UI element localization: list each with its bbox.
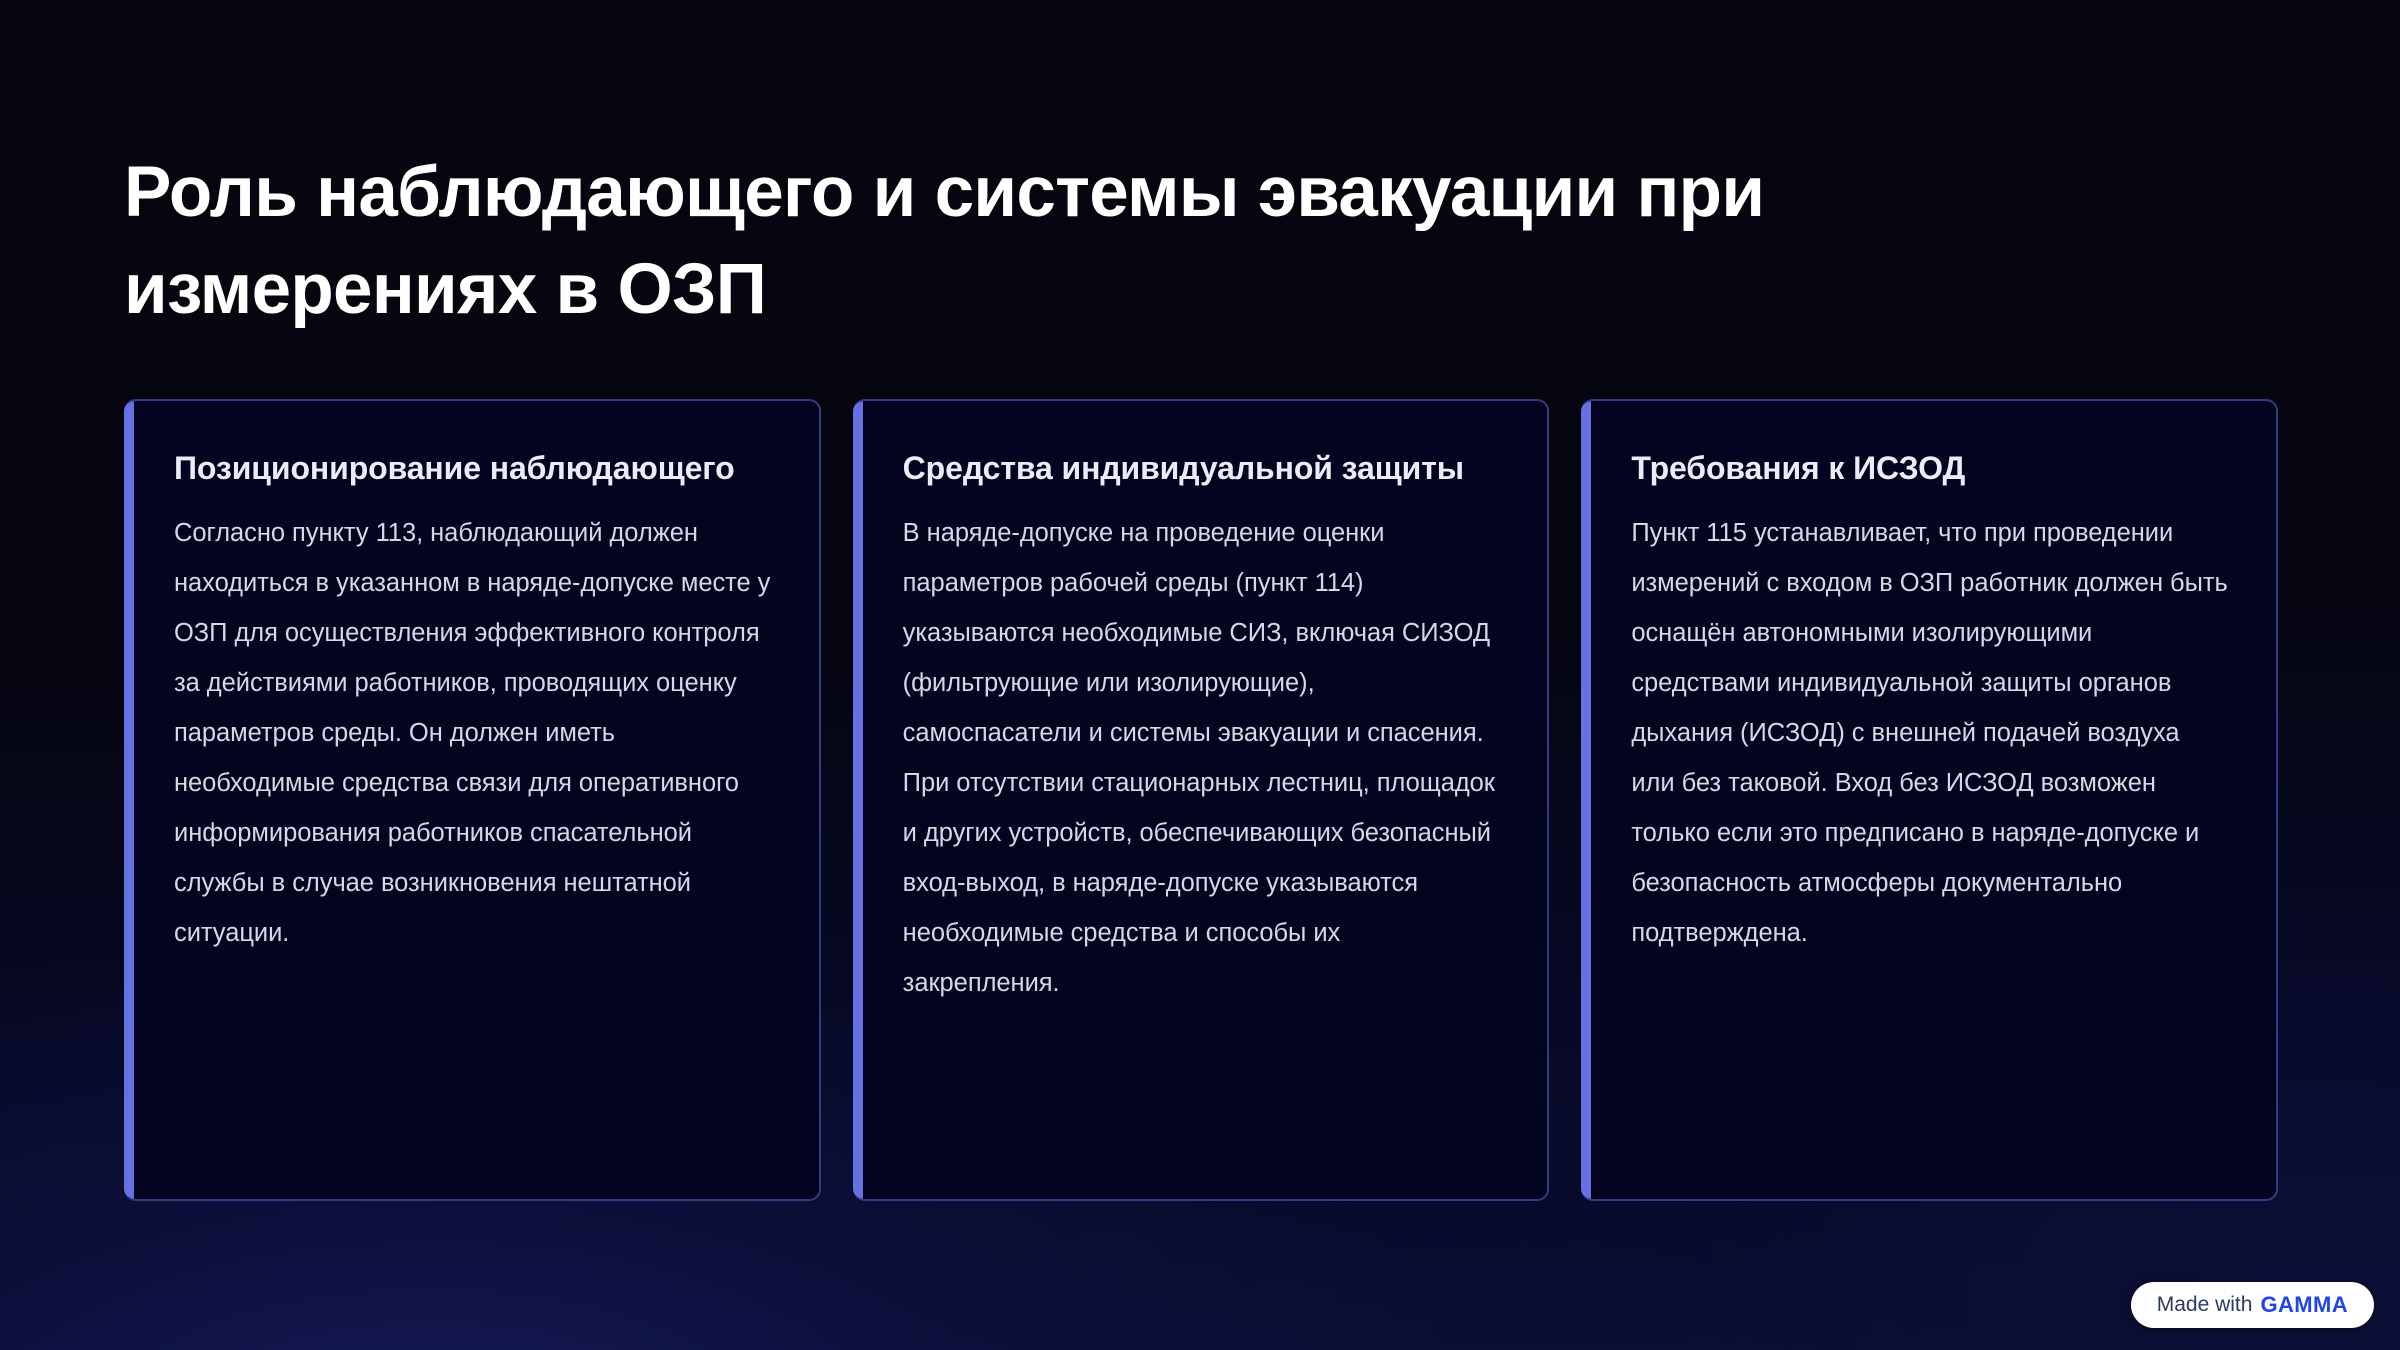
card-accent-bar bbox=[853, 399, 863, 1201]
page-title: Роль наблюдающего и системы эвакуации пр… bbox=[124, 144, 1984, 338]
gamma-wordmark: GAMMA bbox=[2260, 1292, 2348, 1318]
info-card-positioning: Позиционирование наблюдающего Согласно п… bbox=[124, 399, 821, 1201]
card-heading: Требования к ИСЗОД bbox=[1631, 445, 2228, 492]
made-with-gamma-badge[interactable]: Made with GAMMA bbox=[2131, 1282, 2374, 1328]
card-row: Позиционирование наблюдающего Согласно п… bbox=[124, 399, 2278, 1201]
card-heading: Средства индивидуальной защиты bbox=[903, 445, 1500, 492]
card-accent-bar bbox=[1581, 399, 1591, 1201]
made-with-label: Made with bbox=[2157, 1293, 2253, 1317]
card-body-text: Пункт 115 устанавливает, что при проведе… bbox=[1631, 508, 2228, 958]
info-card-iszod: Требования к ИСЗОД Пункт 115 устанавлива… bbox=[1581, 399, 2278, 1201]
info-card-ppe: Средства индивидуальной защиты В наряде-… bbox=[853, 399, 1550, 1201]
card-body-text: Согласно пункту 113, наблюдающий должен … bbox=[174, 508, 771, 958]
card-accent-bar bbox=[124, 399, 134, 1201]
slide-canvas: Роль наблюдающего и системы эвакуации пр… bbox=[0, 0, 2400, 1350]
card-body-text: В наряде-допуске на проведение оценки па… bbox=[903, 508, 1500, 1008]
card-heading: Позиционирование наблюдающего bbox=[174, 445, 771, 492]
